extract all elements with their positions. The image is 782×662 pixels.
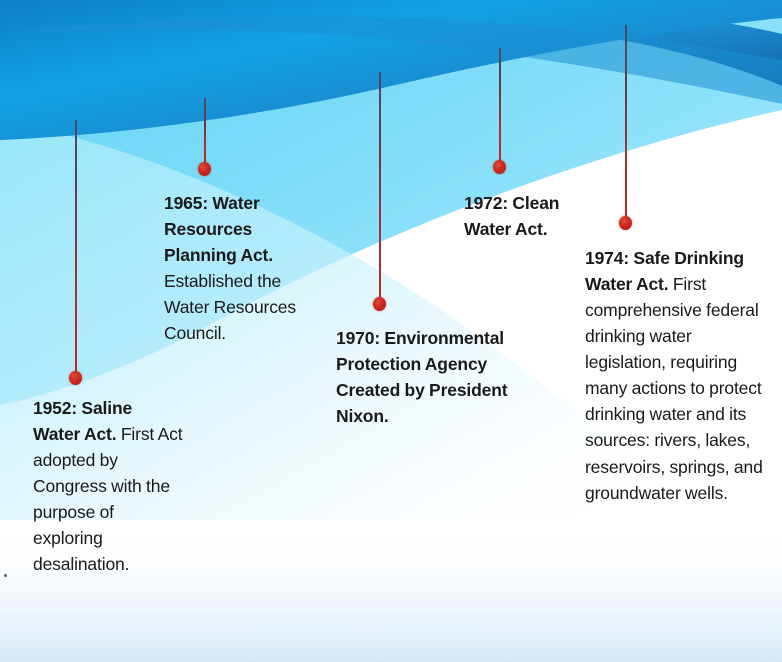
entry-body-1952: First Act adopted by Congress with the p… — [33, 424, 182, 574]
entry-heading-1965: 1965: Water Resources Planning Act. — [164, 193, 273, 265]
marker-dot-1965[interactable] — [198, 162, 211, 176]
marker-dot-1952[interactable] — [69, 371, 82, 385]
marker-dot-1972[interactable] — [493, 160, 506, 174]
entry-heading-1972: 1972: Clean Water Act. — [464, 193, 559, 239]
marker-line-1972 — [499, 48, 501, 164]
scan-speck — [4, 574, 7, 577]
entry-text-1974: 1974: Safe Drinking Water Act. First com… — [585, 245, 770, 506]
entry-text-1972: 1972: Clean Water Act. — [464, 190, 604, 242]
marker-dot-1974[interactable] — [619, 216, 632, 230]
entry-text-1952: 1952: Saline Water Act. First Act adopte… — [33, 395, 183, 577]
entry-text-1970: 1970: Environmental Protection Agency Cr… — [336, 325, 536, 429]
entry-heading-1974: 1974: Safe Drinking Water Act. — [585, 248, 744, 294]
timeline-infographic: 1952: Saline Water Act. First Act adopte… — [0, 0, 782, 662]
marker-line-1974 — [625, 25, 627, 219]
entry-heading-1970: 1970: Environmental Protection Agency Cr… — [336, 328, 507, 426]
entry-text-1965: 1965: Water Resources Planning Act. Esta… — [164, 190, 326, 346]
marker-line-1970 — [379, 72, 381, 300]
entry-body-1965: Established the Water Resources Council. — [164, 271, 296, 343]
marker-dot-1970[interactable] — [373, 297, 386, 311]
entry-body-1974: First comprehensive federal drinking wat… — [585, 274, 763, 503]
marker-line-1965 — [204, 98, 206, 166]
marker-line-1952 — [75, 120, 77, 378]
